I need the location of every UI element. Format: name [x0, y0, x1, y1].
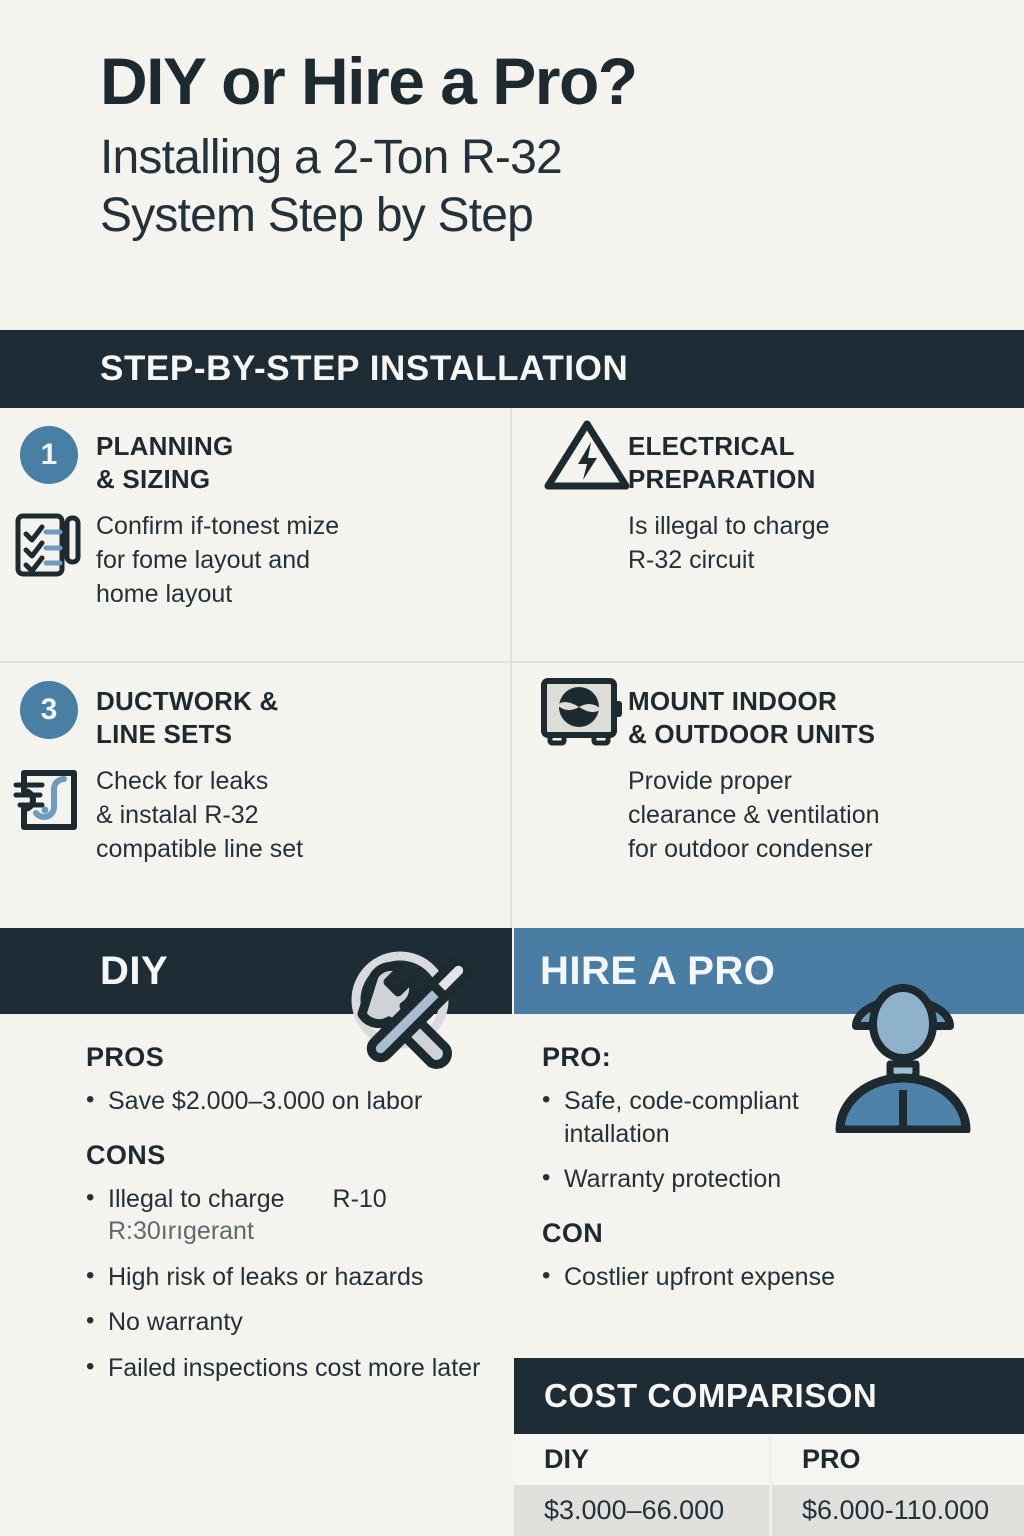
- diy-band-label: DIY: [100, 949, 168, 994]
- condenser-unit-icon: [536, 673, 634, 753]
- step-heading-2: ELECTRICAL PREPARATION: [628, 430, 998, 497]
- step-heading-3: DUCTWORK & LINE SETS: [96, 685, 484, 752]
- step-heading-3-line2: LINE SETS: [96, 718, 484, 751]
- step-body-1-line3: home layout: [96, 577, 484, 611]
- step-heading-3-line1: DUCTWORK &: [96, 685, 484, 718]
- cost-comparison-label: COST COMPARISON: [544, 1377, 877, 1415]
- step-card-3: 3 DUCTWORK & LINE SETS Check for leaks &…: [0, 663, 512, 928]
- step-number-badge-3: 3: [20, 681, 78, 739]
- step-body-4-line1: Provide proper: [628, 764, 998, 798]
- step-body-2-line2: R-32 circuit: [628, 543, 998, 577]
- wrench-screwdriver-icon: [330, 938, 495, 1088]
- title-block: DIY or Hire a Pro? Installing a 2-Ton R-…: [100, 48, 980, 245]
- step-number-badge-1: 1: [20, 426, 78, 484]
- electrical-hazard-icon: [542, 416, 632, 494]
- step-heading-4-line2: & OUTDOOR UNITS: [628, 718, 998, 751]
- list-item: High risk of leaks or hazards: [86, 1261, 492, 1294]
- list-item: Illegal to chargeR-10 R:30ırıgerant: [86, 1183, 492, 1248]
- step-body-4-line2: clearance & ventilation: [628, 798, 998, 832]
- step-body-1-line2: for fome layout and: [96, 543, 484, 577]
- page-subtitle-line1: Installing a 2-Ton R-32: [100, 129, 980, 187]
- pro-cons-label: CON: [542, 1218, 1004, 1249]
- table-cell-diy-cost: $3.000–66.000: [514, 1485, 769, 1536]
- clipboard-checklist-icon: [12, 508, 86, 582]
- table-row: $3.000–66.000 $6.000-110.000: [514, 1485, 1024, 1536]
- diy-con-1-part-c: R:30ırıgerant: [108, 1217, 254, 1245]
- cost-comparison-table: DIY PRO $3.000–66.000 $6.000-110.000: [514, 1434, 1024, 1536]
- list-item: Failed inspections cost more later: [86, 1352, 492, 1385]
- list-item: Save $2.000–3.000 on labor: [86, 1085, 492, 1118]
- step-heading-1: PLANNING & SIZING: [96, 430, 484, 497]
- step-body-2: Is illegal to charge R-32 circuit: [628, 509, 998, 577]
- list-item: No warranty: [86, 1306, 492, 1339]
- step-body-1-line1: Confirm if-tonest mize: [96, 509, 484, 543]
- page-title: DIY or Hire a Pro?: [100, 48, 980, 115]
- step-card-1: 1 PLANNING & SIZING Confirm if-tone: [0, 408, 512, 663]
- diy-pros-list: Save $2.000–3.000 on labor: [86, 1085, 492, 1118]
- step-heading-1-line1: PLANNING: [96, 430, 484, 463]
- step-body-4: Provide proper clearance & ventilation f…: [628, 764, 998, 866]
- steps-banner: STEP-BY-STEP INSTALLATION: [0, 330, 1024, 408]
- step-body-2-line1: Is illegal to charge: [628, 509, 998, 543]
- step-body-1: Confirm if-tonest mize for fome layout a…: [96, 509, 484, 611]
- table-cell-pro-cost: $6.000-110.000: [769, 1485, 1024, 1536]
- step-body-3-line1: Check for leaks: [96, 764, 484, 798]
- step-body-3: Check for leaks & instalal R-32 compatib…: [96, 764, 484, 866]
- list-item: Warranty protection: [542, 1163, 1004, 1196]
- steps-banner-label: STEP-BY-STEP INSTALLATION: [100, 349, 628, 389]
- cost-comparison-banner: COST COMPARISON: [514, 1358, 1024, 1434]
- step-body-3-line2: & instalal R-32: [96, 798, 484, 832]
- step-body-3-line3: compatible line set: [96, 832, 484, 866]
- step-body-4-line3: for outdoor condenser: [628, 832, 998, 866]
- table-header-pro: PRO: [769, 1434, 1024, 1485]
- infographic-page: DIY or Hire a Pro? Installing a 2-Ton R-…: [0, 0, 1024, 1536]
- diy-con-1-part-a: Illegal to charge: [108, 1185, 285, 1213]
- step-heading-1-line2: & SIZING: [96, 463, 484, 496]
- technician-avatar-icon: [818, 978, 988, 1133]
- diy-cons-label: CONS: [86, 1140, 492, 1171]
- step-heading-4: MOUNT INDOOR & OUTDOOR UNITS: [628, 685, 998, 752]
- steps-grid: 1 PLANNING & SIZING Confirm if-tone: [0, 408, 1024, 928]
- step-card-2: ELECTRICAL PREPARATION Is illegal to cha…: [512, 408, 1024, 663]
- list-item: Safe, code-compliant intallation: [542, 1085, 862, 1150]
- airflow-duct-icon: [12, 763, 86, 837]
- page-subtitle: Installing a 2-Ton R-32 System Step by S…: [100, 129, 980, 244]
- page-subtitle-line2: System Step by Step: [100, 187, 980, 245]
- pro-band-label: HIRE A PRO: [540, 949, 775, 994]
- pro-cons-list: Costlier upfront expense: [542, 1261, 1004, 1294]
- diy-con-1-part-b: R-10: [333, 1185, 387, 1213]
- step-heading-2-line2: PREPARATION: [628, 463, 998, 496]
- list-item: Costlier upfront expense: [542, 1261, 1004, 1294]
- diy-cons-list: Illegal to chargeR-10 R:30ırıgerant High…: [86, 1183, 492, 1385]
- step-heading-2-line1: ELECTRICAL: [628, 430, 998, 463]
- step-heading-4-line1: MOUNT INDOOR: [628, 685, 998, 718]
- table-header-row: DIY PRO: [514, 1434, 1024, 1485]
- table-header-diy: DIY: [514, 1434, 769, 1485]
- step-card-4: MOUNT INDOOR & OUTDOOR UNITS Provide pro…: [512, 663, 1024, 928]
